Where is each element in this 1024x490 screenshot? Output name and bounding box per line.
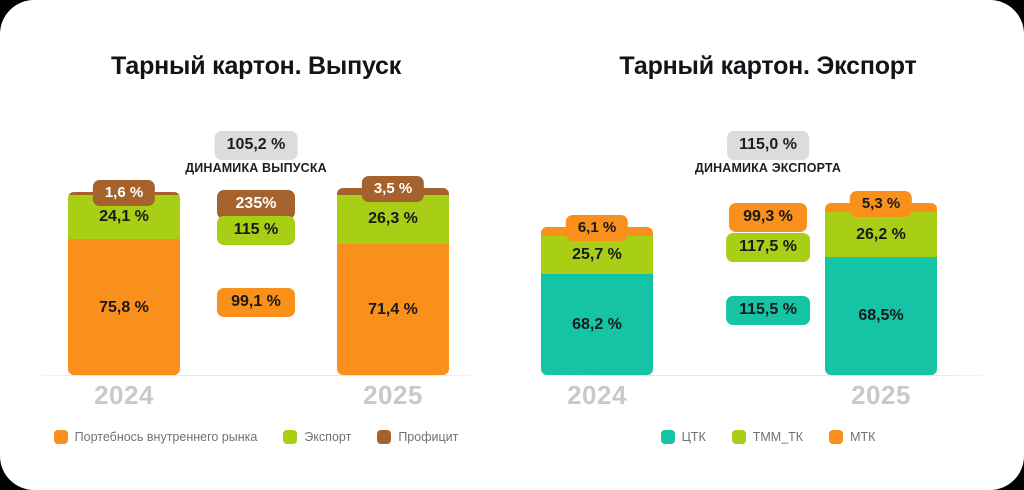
dynamics-badge-vnutrenniy: 99,1 %: [217, 288, 295, 317]
panel-vypusk: Тарный картон. Выпуск 105,2 % ДИНАМИКА В…: [0, 0, 512, 490]
bar-segment-label: 75,8 %: [99, 299, 149, 317]
legend-swatch-icon: [829, 430, 843, 444]
bar-group-2024: 1,6 % 24,1 %75,8 %: [68, 180, 180, 375]
bar-stack-2025[interactable]: 26,2 %68,5%: [825, 203, 937, 375]
legend-eksport: ЦТКТММ_ТКМТК: [512, 430, 1024, 444]
bar-segment-ctk: 68,2 %: [541, 274, 653, 375]
dynamics-badge-profitsit: 235%: [217, 190, 295, 219]
legend-item[interactable]: ТММ_ТК: [732, 430, 803, 444]
x-tick-2024: 2024: [59, 380, 189, 411]
legend-label: Портебнось внутреннего рынка: [75, 430, 258, 444]
bar-segment-vnutrenniy: 71,4 %: [337, 244, 449, 375]
bar-top-badge-2024: 6,1 %: [566, 215, 628, 241]
bar-stack-2024[interactable]: 25,7 %68,2 %: [541, 227, 653, 375]
legend-label: Профицит: [398, 430, 458, 444]
dynamics-caption-eksport: ДИНАМИКА ЭКСПОРТА: [512, 161, 1024, 175]
bar-stack-2024[interactable]: 24,1 %75,8 %: [68, 192, 180, 375]
legend-swatch-icon: [54, 430, 68, 444]
dynamics-badge-eksport: 115 %: [217, 216, 295, 245]
legend-item[interactable]: ЦТК: [661, 430, 706, 444]
page-title-eksport: Тарный картон. Экспорт: [512, 52, 1024, 81]
dynamics-badge-tmm-tk: 117,5 %: [726, 233, 810, 262]
legend-label: Экспорт: [304, 430, 351, 444]
dynamics-badge-ctk: 115,5 %: [726, 296, 810, 325]
x-tick-2025: 2025: [328, 380, 458, 411]
bar-group-2025: 5,3 % 26,2 %68,5%: [825, 191, 937, 375]
legend-item[interactable]: Портебнось внутреннего рынка: [54, 430, 258, 444]
bar-top-badge-2025: 3,5 %: [362, 176, 424, 202]
bar-segment-tmm_tk: 25,7 %: [541, 236, 653, 274]
panel-eksport: Тарный картон. Экспорт 115,0 % ДИНАМИКА …: [512, 0, 1024, 490]
infographic-canvas: Тарный картон. Выпуск 105,2 % ДИНАМИКА В…: [0, 0, 1024, 490]
bar-group-2025: 3,5 % 26,3 %71,4 %: [337, 176, 449, 375]
bar-segment-label: 25,7 %: [572, 246, 622, 264]
bar-segment-tmm_tk: 26,2 %: [825, 212, 937, 257]
dynamics-total-eksport: 115,0 %: [727, 131, 809, 160]
bar-segment-label: 68,2 %: [572, 316, 622, 334]
x-tick-2025: 2025: [816, 380, 946, 411]
bar-segment-label: 68,5%: [858, 307, 903, 325]
bar-segment-label: 26,3 %: [368, 210, 418, 228]
page-title-vypusk: Тарный картон. Выпуск: [0, 52, 512, 81]
bar-segment-label: 71,4 %: [368, 301, 418, 319]
legend-label: ЦТК: [682, 430, 706, 444]
legend-swatch-icon: [283, 430, 297, 444]
bar-top-badge-2025: 5,3 %: [850, 191, 912, 217]
legend-swatch-icon: [377, 430, 391, 444]
legend-swatch-icon: [732, 430, 746, 444]
bar-segment-ctk: 68,5%: [825, 257, 937, 375]
legend-item[interactable]: МТК: [829, 430, 875, 444]
bar-stack-2025[interactable]: 26,3 %71,4 %: [337, 188, 449, 375]
dynamics-caption-vypusk: ДИНАМИКА ВЫПУСКА: [0, 161, 512, 175]
x-tick-2024: 2024: [532, 380, 662, 411]
bar-segment-label: 26,2 %: [856, 226, 906, 244]
bar-segment-label: 24,1 %: [99, 208, 149, 226]
bar-top-badge-2024: 1,6 %: [93, 180, 155, 206]
dynamics-badge-mtk: 99,3 %: [729, 203, 807, 232]
legend-swatch-icon: [661, 430, 675, 444]
legend-label: МТК: [850, 430, 875, 444]
axis-baseline: [546, 375, 990, 376]
bar-group-2024: 6,1 % 25,7 %68,2 %: [541, 215, 653, 375]
legend-item[interactable]: Экспорт: [283, 430, 351, 444]
legend-label: ТММ_ТК: [753, 430, 803, 444]
legend-item[interactable]: Профицит: [377, 430, 458, 444]
dynamics-total-vypusk: 105,2 %: [215, 131, 298, 160]
bar-segment-vnutrenniy: 75,8 %: [68, 239, 180, 375]
legend-vypusk: Портебнось внутреннего рынкаЭкспортПрофи…: [0, 430, 512, 444]
axis-baseline: [34, 375, 478, 376]
